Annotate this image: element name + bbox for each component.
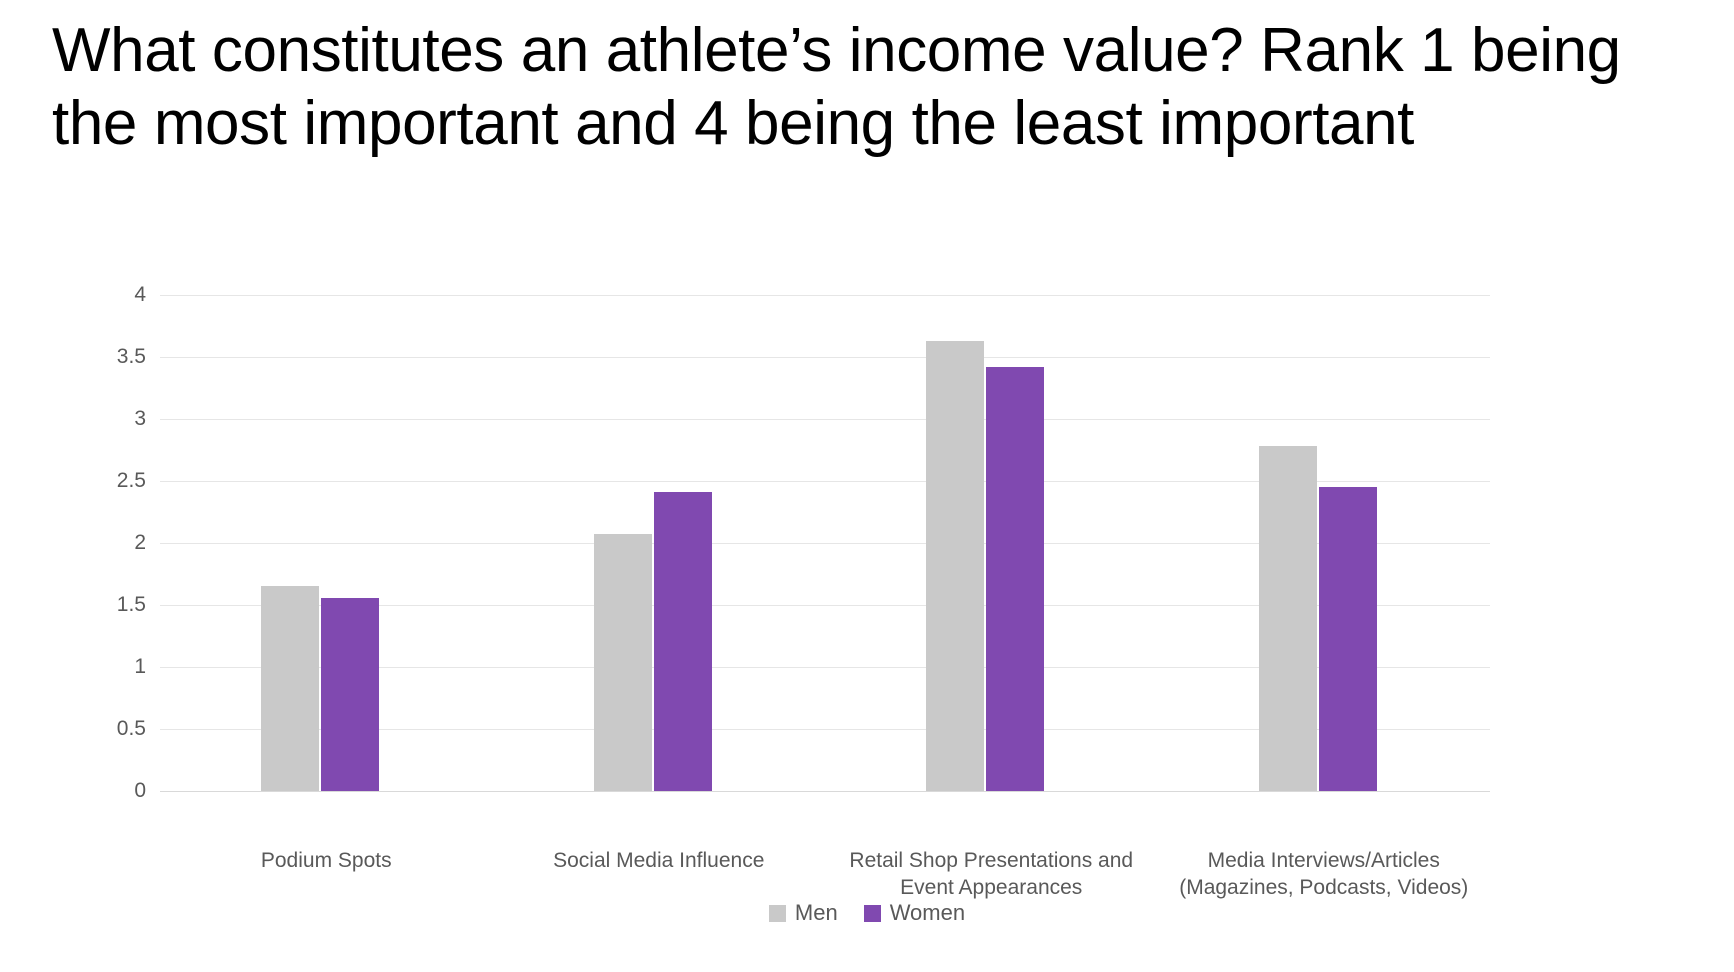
y-axis-tick-label: 2 <box>88 531 146 555</box>
legend-swatch-men <box>769 905 786 922</box>
bar-women-1[interactable] <box>321 598 379 791</box>
x-axis-category-label: Podium Spots <box>160 847 493 874</box>
y-axis-tick-label: 4 <box>88 283 146 307</box>
y-axis-tick-label: 2.5 <box>88 469 146 493</box>
y-axis-tick-label: 3.5 <box>88 345 146 369</box>
x-axis-baseline <box>160 791 1490 792</box>
bar-women-4[interactable] <box>1319 487 1377 791</box>
x-axis-category-label: Retail Shop Presentations and Event Appe… <box>825 847 1158 901</box>
page-title: What constitutes an athlete’s income val… <box>52 14 1662 160</box>
gridline <box>160 357 1490 358</box>
bar-men-3[interactable] <box>926 341 984 791</box>
bar-men-4[interactable] <box>1259 446 1317 791</box>
legend-item-men[interactable]: Men <box>769 900 838 926</box>
legend-swatch-women <box>864 905 881 922</box>
y-axis-tick-label: 3 <box>88 407 146 431</box>
bar-men-2[interactable] <box>594 534 652 791</box>
y-axis-tick-label: 1.5 <box>88 593 146 617</box>
bar-chart: 00.511.522.533.54 Podium SpotsSocial Med… <box>0 250 1734 970</box>
bar-men-1[interactable] <box>261 586 319 791</box>
legend-item-women[interactable]: Women <box>864 900 965 926</box>
gridline <box>160 295 1490 296</box>
bar-women-3[interactable] <box>986 367 1044 791</box>
y-axis-tick-label: 0 <box>88 779 146 803</box>
y-axis-tick-label: 0.5 <box>88 717 146 741</box>
gridline <box>160 419 1490 420</box>
x-axis-category-label: Media Interviews/Articles (Magazines, Po… <box>1158 847 1491 901</box>
y-axis-tick-label: 1 <box>88 655 146 679</box>
legend-label: Women <box>890 900 965 926</box>
plot-area: 00.511.522.533.54 Podium SpotsSocial Med… <box>160 295 1490 791</box>
legend-label: Men <box>795 900 838 926</box>
bar-women-2[interactable] <box>654 492 712 791</box>
chart-legend: MenWomen <box>0 900 1734 926</box>
x-axis-category-label: Social Media Influence <box>493 847 826 874</box>
